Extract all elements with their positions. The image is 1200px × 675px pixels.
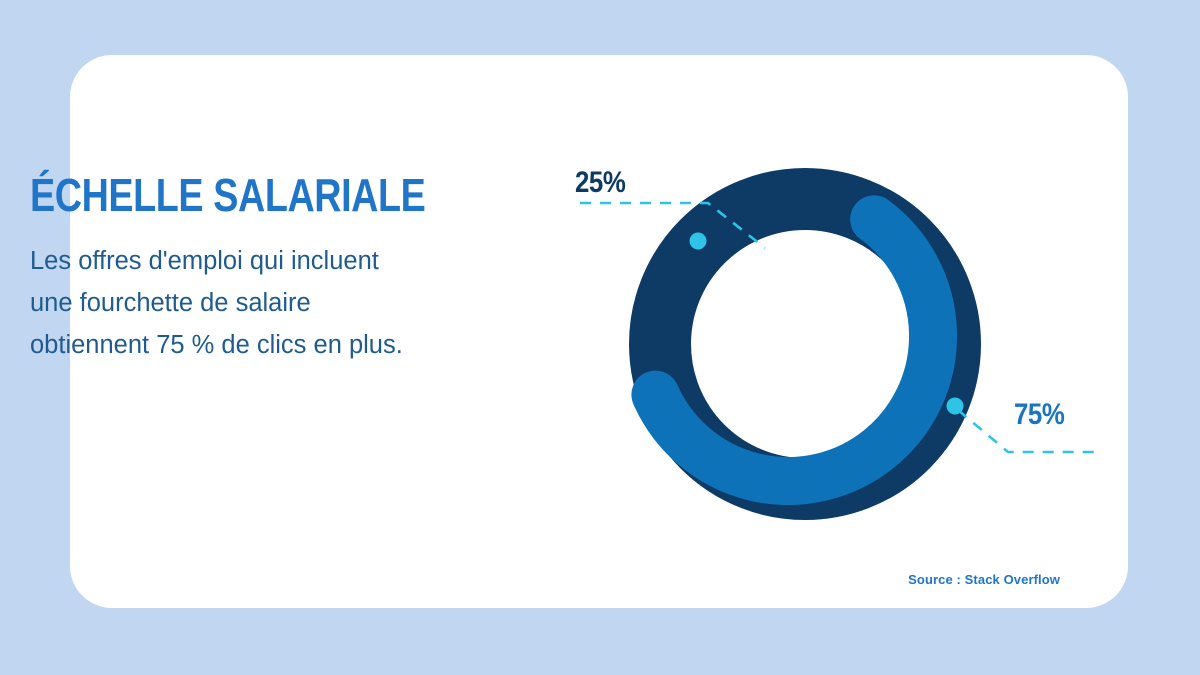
pct-label-75: 75%: [1014, 398, 1064, 432]
source-credit: Source : Stack Overflow: [760, 572, 1060, 587]
body-paragraph: Les offres d'emploi qui incluent une fou…: [30, 240, 530, 366]
infographic-canvas: ÉCHELLE SALARIALE Les offres d'emploi qu…: [0, 0, 1200, 675]
text-column: ÉCHELLE SALARIALE Les offres d'emploi qu…: [30, 170, 570, 366]
body-line-1: Les offres d'emploi qui incluent: [30, 240, 530, 282]
body-line-2: une fourchette de salaire: [30, 282, 530, 324]
body-line-3: obtiennent 75 % de clics en plus.: [30, 324, 530, 366]
marker-dot-75: [947, 398, 964, 415]
pct-label-25: 25%: [575, 166, 625, 200]
marker-dot-25: [690, 233, 707, 250]
page-title: ÉCHELLE SALARIALE: [30, 170, 473, 220]
